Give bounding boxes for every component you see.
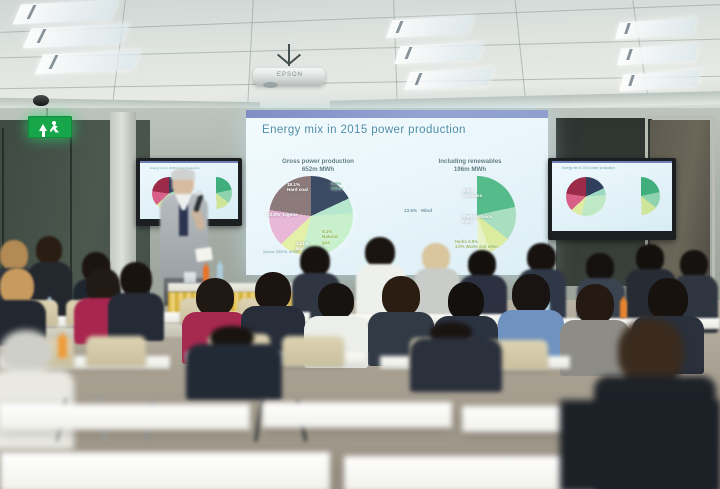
right-monitor-title: Energy mix in 2015 power production xyxy=(562,166,615,170)
right-chart-caption-1: Including renewables xyxy=(410,158,530,166)
right-monitor-slide-bar xyxy=(552,161,672,163)
foreground-desk xyxy=(262,402,452,428)
foreground-desk xyxy=(344,456,594,489)
pie-slice-label-hydro-waste: Hydro 0.8% 3.0% Waste and other xyxy=(455,239,498,250)
pie-slice-label-lignite: 23.8% Lignite xyxy=(267,212,298,217)
drinking-glass xyxy=(184,272,196,283)
projector-brand-label: EPSON xyxy=(268,72,312,78)
pie-slice-label-wind: 13.5% Wind xyxy=(404,208,432,213)
pie-slice-label-biomass: 6.8% Biomass xyxy=(463,188,482,199)
right-chart-caption-2: 196m MWh xyxy=(410,166,530,174)
up-arrow-icon xyxy=(39,124,47,131)
chair xyxy=(86,336,146,366)
left-chart-caption-1: Gross power production xyxy=(258,158,378,166)
left-chart-caption-2: 652m MWh xyxy=(258,166,378,174)
left-monitor-slide-bar xyxy=(140,161,238,163)
pie-slice-label-hard-coal: 18.1% Hard coal xyxy=(287,182,308,193)
orange-juice-bottle xyxy=(620,300,627,318)
foreground-desk xyxy=(0,452,330,489)
presenter-hair xyxy=(171,168,195,180)
slide-title: Energy mix in 2015 power production xyxy=(262,124,542,136)
orange-juice-bottle xyxy=(58,336,67,358)
slide-accent-bar xyxy=(246,110,548,118)
right-monitor-pie-2 xyxy=(622,177,660,215)
projector-lens xyxy=(263,82,278,88)
presenter-papers xyxy=(195,247,213,262)
slide-source-note: Source: BDEW, AGEB xyxy=(263,250,299,255)
exit-sign xyxy=(28,116,72,138)
microphone-head-icon xyxy=(196,190,202,196)
pie-slice-label-photovoltaics: Photovoltaics 5.9% xyxy=(462,214,492,225)
running-person-icon xyxy=(50,121,61,134)
dome-camera xyxy=(33,95,49,106)
conference-room-photo: EPSON Energy mix in 2015 power productio… xyxy=(0,0,720,489)
pie-slice-label-other: 5.9% Other xyxy=(331,181,343,192)
pie-slice-label-natural-gas: 9.1% Natural gas xyxy=(322,229,338,245)
audience-member-foreground xyxy=(560,400,720,489)
foreground-desk xyxy=(0,404,250,430)
chair xyxy=(282,336,344,366)
right-monitor-pie-1 xyxy=(566,177,606,216)
